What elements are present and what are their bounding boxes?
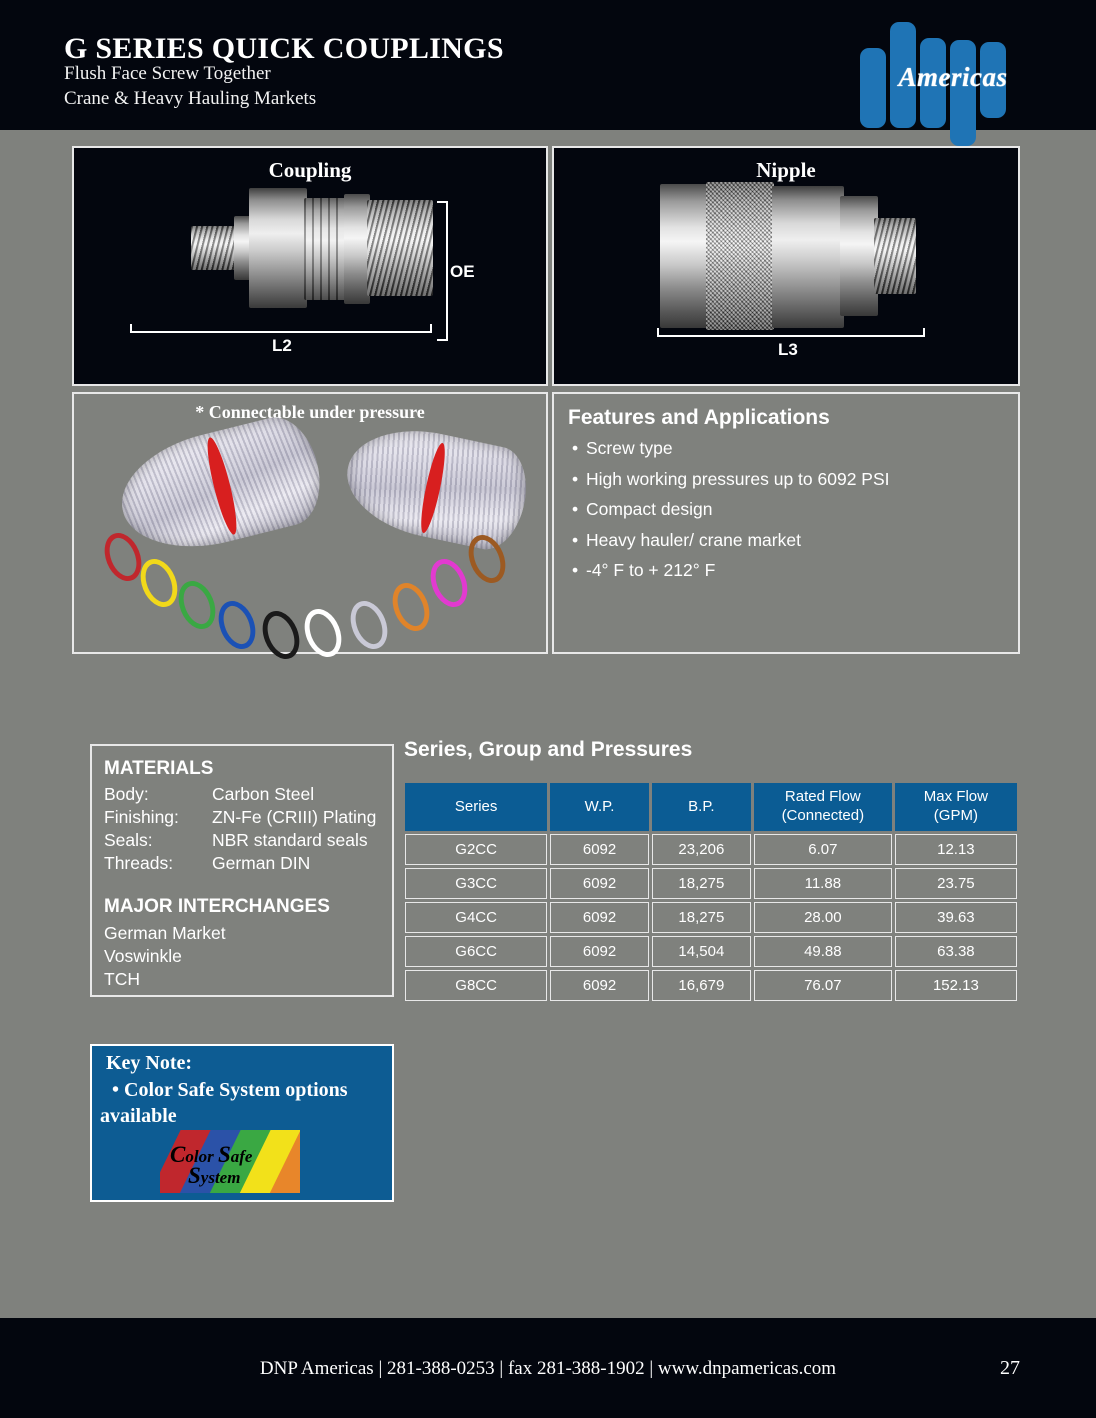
cell-wp: 6092 <box>550 868 649 899</box>
color-safe-logo-line2: System <box>188 1163 240 1189</box>
cell-wp: 6092 <box>550 902 649 933</box>
footer-contact-text: DNP Americas | 281-388-0253 | fax 281-38… <box>0 1358 1096 1380</box>
table-row: G2CC 6092 23,206 6.07 12.13 <box>405 834 1017 865</box>
key-note-bullet-cont: available <box>100 1105 177 1127</box>
cell-bp: 18,275 <box>652 902 751 933</box>
series-group-pressures-table: Series W.P. B.P. Rated Flow (Connected) … <box>402 780 1020 1004</box>
table-header-cell: B.P. <box>652 783 751 831</box>
nipple-length-label: L3 <box>778 340 798 360</box>
major-interchanges-heading: MAJOR INTERCHANGES <box>104 896 330 918</box>
cell-bp: 14,504 <box>652 936 751 967</box>
cell-series: G6CC <box>405 936 547 967</box>
color-safe-system-logo-icon: Color Safe System <box>160 1130 300 1193</box>
table-row: G4CC 6092 18,275 28.00 39.63 <box>405 902 1017 933</box>
spec-table-title: Series, Group and Pressures <box>404 738 692 762</box>
cell-rated-flow: 11.88 <box>754 868 892 899</box>
table-row: G3CC 6092 18,275 11.88 23.75 <box>405 868 1017 899</box>
cell-series: G4CC <box>405 902 547 933</box>
key-note-title: Key Note: <box>106 1052 192 1075</box>
page-subtitle-2: Crane & Heavy Hauling Markets <box>64 88 316 110</box>
table-header-cell: Rated Flow (Connected) <box>754 783 892 831</box>
cell-bp: 18,275 <box>652 868 751 899</box>
cell-rated-flow: 28.00 <box>754 902 892 933</box>
materials-box: MATERIALS Body:Carbon Steel Finishing:ZN… <box>90 744 394 997</box>
table-header-cell: Series <box>405 783 547 831</box>
table-header-cell: W.P. <box>550 783 649 831</box>
cell-max-flow: 12.13 <box>895 834 1017 865</box>
cell-rated-flow: 6.07 <box>754 834 892 865</box>
table-row: G8CC 6092 16,679 76.07 152.13 <box>405 970 1017 1001</box>
table-row: G6CC 6092 14,504 49.88 63.38 <box>405 936 1017 967</box>
features-and-applications-panel: Features and Applications Screw type Hig… <box>552 392 1020 654</box>
cell-max-flow: 39.63 <box>895 902 1017 933</box>
materials-row-value: German DIN <box>212 853 310 873</box>
materials-row-value: ZN-Fe (CRIII) Plating <box>212 807 376 827</box>
interchange-item: German Market <box>104 923 226 944</box>
cell-max-flow: 152.13 <box>895 970 1017 1001</box>
dnp-americas-logo-icon: Americas <box>860 12 1030 130</box>
cell-wp: 6092 <box>550 936 649 967</box>
coupling-diameter-label: OE <box>450 262 475 282</box>
interchange-item: TCH <box>104 969 140 990</box>
features-list: Screw type High working pressures up to … <box>572 438 890 591</box>
materials-row: Finishing:ZN-Fe (CRIII) Plating <box>104 807 389 828</box>
nipple-panel-title: Nipple <box>554 158 1018 183</box>
coupling-panel-title: Coupling <box>74 158 546 183</box>
cell-series: G2CC <box>405 834 547 865</box>
table-header-row: Series W.P. B.P. Rated Flow (Connected) … <box>405 783 1017 831</box>
feature-item: -4° F to + 212° F <box>572 560 890 581</box>
cell-series: G3CC <box>405 868 547 899</box>
materials-row: Threads:German DIN <box>104 853 389 874</box>
connectable-under-pressure-panel: * Connectable under pressure <box>72 392 548 654</box>
materials-row: Seals:NBR standard seals <box>104 830 389 851</box>
coupling-image-panel: Coupling L2 OE <box>72 146 548 386</box>
feature-item: High working pressures up to 6092 PSI <box>572 469 890 490</box>
feature-item: Screw type <box>572 438 890 459</box>
feature-item: Compact design <box>572 499 890 520</box>
footer-page-number: 27 <box>1000 1357 1020 1380</box>
interchange-item: Voswinkle <box>104 946 182 967</box>
cell-series: G8CC <box>405 970 547 1001</box>
materials-row-value: NBR standard seals <box>212 830 368 850</box>
cell-rated-flow: 49.88 <box>754 936 892 967</box>
cell-wp: 6092 <box>550 970 649 1001</box>
connectable-panel-title: * Connectable under pressure <box>74 402 546 423</box>
key-note-bullet: • Color Safe System options <box>112 1079 348 1101</box>
cell-max-flow: 63.38 <box>895 936 1017 967</box>
feature-item: Heavy hauler/ crane market <box>572 530 890 551</box>
coupling-length-label: L2 <box>272 336 292 356</box>
table-header-cell: Max Flow (GPM) <box>895 783 1017 831</box>
materials-row-key: Threads: <box>104 853 212 874</box>
materials-row-key: Seals: <box>104 830 212 851</box>
features-panel-title: Features and Applications <box>568 406 830 430</box>
logo-wordmark: Americas <box>878 62 1028 93</box>
cell-bp: 16,679 <box>652 970 751 1001</box>
coupling-diameter-dimension-bracket <box>437 201 448 341</box>
page-subtitle-1: Flush Face Screw Together <box>64 63 271 85</box>
cell-rated-flow: 76.07 <box>754 970 892 1001</box>
materials-heading: MATERIALS <box>104 758 213 780</box>
key-note-body: • Color Safe System options available <box>100 1078 390 1129</box>
materials-row-key: Body: <box>104 784 212 805</box>
materials-row-key: Finishing: <box>104 807 212 828</box>
nipple-length-dimension-bracket <box>657 328 925 337</box>
cell-max-flow: 23.75 <box>895 868 1017 899</box>
cell-wp: 6092 <box>550 834 649 865</box>
coupling-length-dimension-bracket <box>130 324 432 333</box>
nipple-image-panel: Nipple L3 <box>552 146 1020 386</box>
cell-bp: 23,206 <box>652 834 751 865</box>
page-title: G SERIES QUICK COUPLINGS <box>64 32 504 66</box>
materials-row: Body:Carbon Steel <box>104 784 389 805</box>
materials-row-value: Carbon Steel <box>212 784 314 804</box>
